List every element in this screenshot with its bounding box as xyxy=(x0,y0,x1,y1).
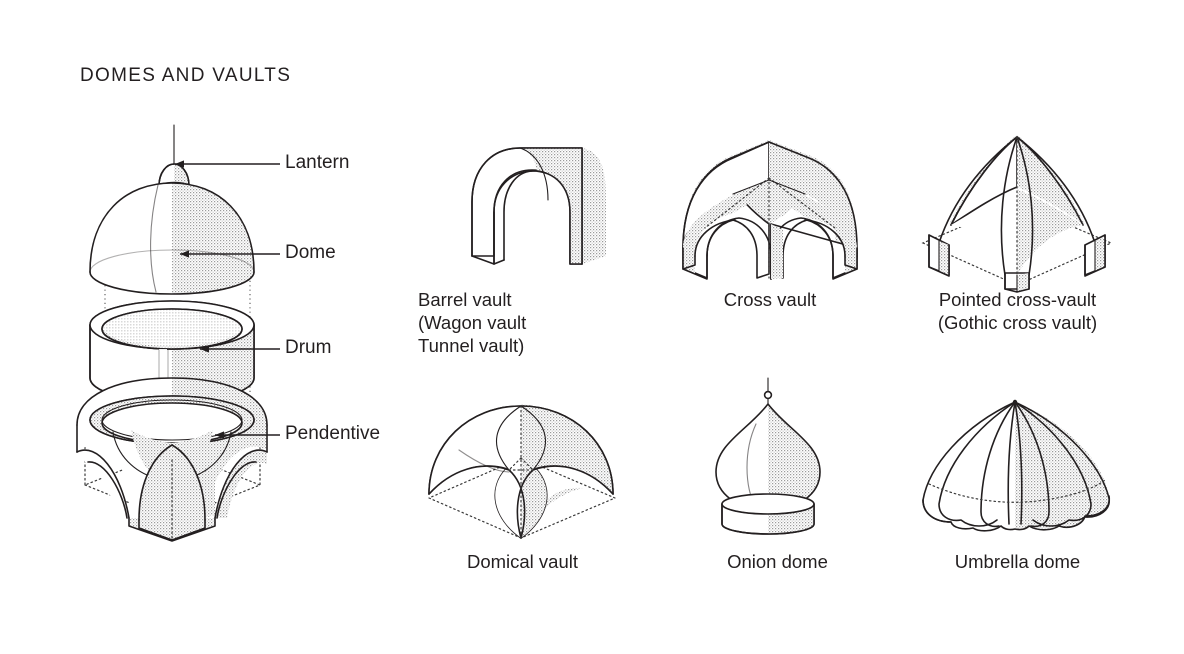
caption-pointed-cross-vault: Pointed cross-vault (Gothic cross vault) xyxy=(890,288,1145,334)
figure-barrel-vault xyxy=(410,130,610,280)
caption-domical-vault: Domical vault xyxy=(395,550,650,573)
caption-cross-vault: Cross vault xyxy=(640,288,900,311)
page-title: DOMES AND VAULTS xyxy=(80,65,291,87)
callout-leaders xyxy=(55,120,415,540)
caption-umbrella-dome: Umbrella dome xyxy=(890,550,1145,573)
callout-label-dome: Dome xyxy=(285,242,336,264)
figure-umbrella-dome xyxy=(905,388,1130,543)
caption-onion-dome: Onion dome xyxy=(650,550,905,573)
callout-label-pendentive: Pendentive xyxy=(285,423,380,445)
caption-barrel-vault: Barrel vault (Wagon vault Tunnel vault) xyxy=(418,288,526,357)
figure-pointed-cross-vault xyxy=(905,125,1130,295)
diagram-page: DOMES AND VAULTS xyxy=(0,0,1184,654)
callout-label-lantern: Lantern xyxy=(285,152,349,174)
figure-cross-vault xyxy=(665,128,875,283)
figure-domical-vault xyxy=(415,390,630,545)
figure-onion-dome xyxy=(670,378,870,538)
callout-label-drum: Drum xyxy=(285,337,331,359)
